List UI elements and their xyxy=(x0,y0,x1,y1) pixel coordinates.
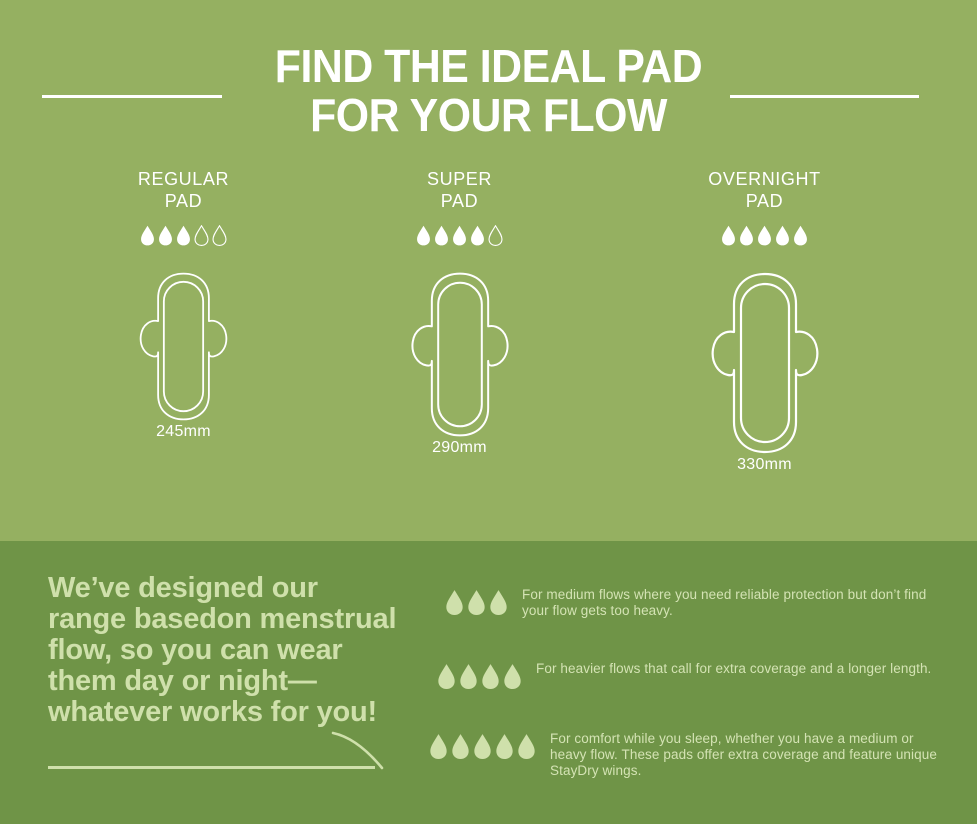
droplet-filled-icon xyxy=(176,225,191,246)
pad-shape xyxy=(707,270,823,456)
fact-drops-overnight xyxy=(420,731,536,760)
divider-right xyxy=(730,95,919,98)
pad-illustration-overnight xyxy=(707,270,823,456)
droplet-filled-icon xyxy=(517,733,536,760)
droplet-filled-icon xyxy=(459,663,478,690)
droplet-filled-icon xyxy=(757,225,772,246)
droplet-filled-icon xyxy=(473,733,492,760)
product-name-line2: PAD xyxy=(708,190,820,212)
product-columns: REGULAR PAD 245mm SUPER PAD 290mm xyxy=(0,168,977,528)
product-column-overnight: OVERNIGHT PAD 330mm xyxy=(552,168,977,528)
flow-fact-row: For medium flows where you need reliable… xyxy=(420,587,940,619)
droplet-filled-icon xyxy=(434,225,449,246)
fact-text-overnight: For comfort while you sleep, whether you… xyxy=(550,731,940,779)
droplet-filled-icon xyxy=(451,733,470,760)
bottom-headline: We’ve designed our range basedon menstru… xyxy=(48,573,398,728)
droplet-filled-icon xyxy=(489,589,508,616)
droplet-filled-icon xyxy=(470,225,485,246)
product-name-line1: SUPER xyxy=(427,168,492,190)
droplet-filled-icon xyxy=(445,589,464,616)
droplet-filled-icon xyxy=(775,225,790,246)
product-name-regular: REGULAR PAD xyxy=(138,168,229,212)
droplet-filled-icon xyxy=(495,733,514,760)
droplet-filled-icon xyxy=(467,589,486,616)
droplet-filled-icon xyxy=(739,225,754,246)
product-column-regular: REGULAR PAD 245mm xyxy=(0,168,367,528)
product-name-line1: REGULAR xyxy=(138,168,229,190)
infographic-page: FIND THE IDEAL PAD FOR YOUR FLOW REGULAR… xyxy=(0,0,977,824)
absorbency-drops-overnight xyxy=(721,222,808,246)
curved-arrow-icon xyxy=(330,731,390,778)
product-name-super: SUPER PAD xyxy=(427,168,492,212)
product-name-line2: PAD xyxy=(138,190,229,212)
page-title: FIND THE IDEAL PAD FOR YOUR FLOW xyxy=(0,42,977,140)
droplet-filled-icon xyxy=(437,663,456,690)
flow-fact-list: For medium flows where you need reliable… xyxy=(420,569,940,798)
droplet-filled-icon xyxy=(721,225,736,246)
fact-text-heavy: For heavier flows that call for extra co… xyxy=(536,661,931,677)
headline-underline xyxy=(48,766,375,769)
pad-size-regular: 245mm xyxy=(156,423,211,441)
droplet-filled-icon xyxy=(140,225,155,246)
title-line-2: FOR YOUR FLOW xyxy=(34,91,943,140)
product-column-super: SUPER PAD 290mm xyxy=(367,168,552,528)
fact-drops-heavy xyxy=(420,661,522,690)
pad-shape xyxy=(407,270,513,439)
title-line-1: FIND THE IDEAL PAD xyxy=(34,42,943,91)
flow-fact-row: For comfort while you sleep, whether you… xyxy=(420,731,940,779)
droplet-filled-icon xyxy=(416,225,431,246)
droplet-outline-icon xyxy=(212,225,227,246)
droplet-filled-icon xyxy=(429,733,448,760)
fact-drops-medium xyxy=(420,587,508,616)
divider-left xyxy=(42,95,222,98)
pad-size-overnight: 330mm xyxy=(737,456,792,474)
droplet-filled-icon xyxy=(452,225,467,246)
absorbency-drops-regular xyxy=(140,222,227,246)
top-panel: FIND THE IDEAL PAD FOR YOUR FLOW REGULAR… xyxy=(0,0,977,541)
droplet-filled-icon xyxy=(793,225,808,246)
droplet-filled-icon xyxy=(158,225,173,246)
fact-text-medium: For medium flows where you need reliable… xyxy=(522,587,940,619)
flow-fact-row: For heavier flows that call for extra co… xyxy=(420,661,940,690)
droplet-filled-icon xyxy=(503,663,522,690)
product-name-line1: OVERNIGHT xyxy=(708,168,820,190)
product-name-overnight: OVERNIGHT PAD xyxy=(708,168,820,212)
pad-illustration-super xyxy=(407,270,513,439)
droplet-outline-icon xyxy=(194,225,209,246)
pad-size-super: 290mm xyxy=(432,439,487,457)
droplet-filled-icon xyxy=(481,663,500,690)
absorbency-drops-super xyxy=(416,222,503,246)
pad-illustration-regular xyxy=(136,270,231,423)
pad-shape xyxy=(136,270,231,423)
bottom-panel: We’ve designed our range basedon menstru… xyxy=(0,541,977,824)
droplet-outline-icon xyxy=(488,225,503,246)
product-name-line2: PAD xyxy=(427,190,492,212)
